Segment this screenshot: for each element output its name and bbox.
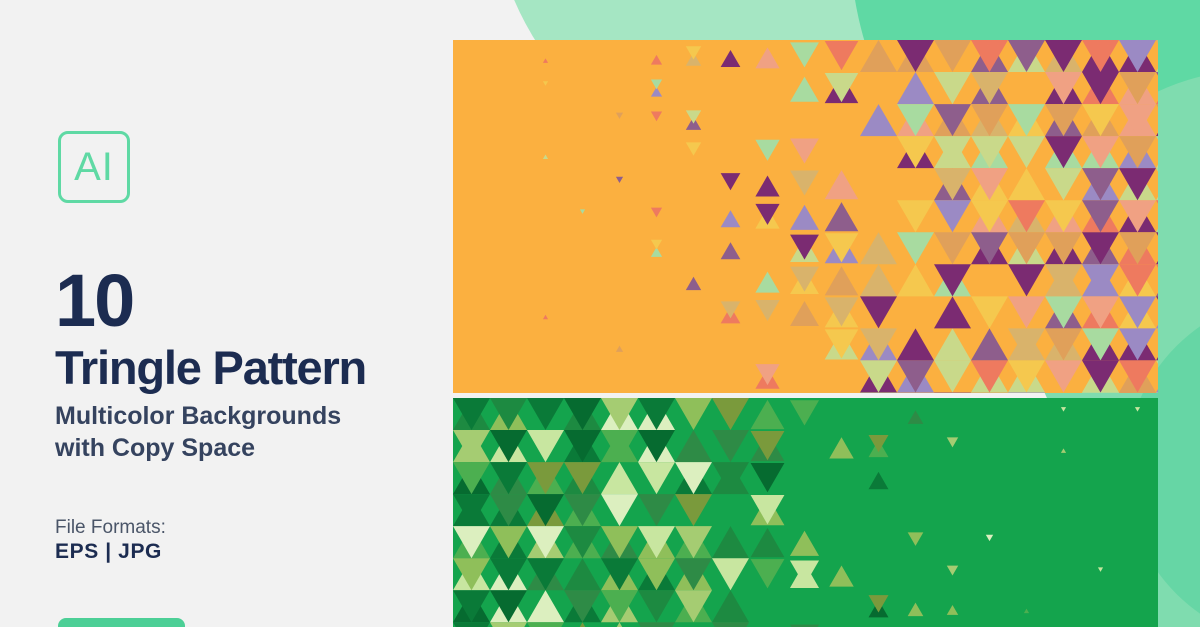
pattern-triangle xyxy=(686,110,701,123)
pattern-triangle xyxy=(675,398,712,430)
pattern-triangle xyxy=(1156,40,1158,72)
pattern-triangle xyxy=(897,392,934,393)
pattern-triangle xyxy=(616,346,623,352)
pattern-triangle xyxy=(527,622,564,627)
pattern-triangle xyxy=(1156,72,1158,104)
pattern-triangle xyxy=(1156,104,1158,136)
pattern-triangle xyxy=(790,205,819,230)
pattern-triangle xyxy=(934,360,971,392)
pattern-triangle xyxy=(825,266,859,295)
pattern-triangle xyxy=(1008,264,1045,296)
pattern-triangle xyxy=(527,590,564,622)
pattern-triangle xyxy=(790,77,819,102)
pattern-triangle xyxy=(1156,200,1158,232)
pattern-triangle xyxy=(1156,328,1158,360)
pattern-triangle xyxy=(675,494,712,526)
pattern-triangle xyxy=(790,531,819,556)
pattern-triangle xyxy=(751,528,785,557)
file-formats-value: EPS | JPG xyxy=(55,540,162,564)
pattern-triangle xyxy=(651,240,662,250)
pattern-triangle xyxy=(829,437,853,458)
pattern-triangle xyxy=(860,264,897,296)
pattern-triangle xyxy=(971,296,1008,328)
pattern-triangle xyxy=(712,430,749,462)
pattern-triangle xyxy=(755,47,779,68)
pattern-triangle xyxy=(638,462,675,494)
pattern-triangle xyxy=(908,532,924,546)
pattern-triangle xyxy=(1156,264,1158,296)
pattern-triangle xyxy=(1156,264,1158,296)
pattern-triangle xyxy=(860,40,897,72)
pattern-triangle xyxy=(825,202,859,231)
pattern-triangle xyxy=(453,622,490,627)
pattern-triangle xyxy=(543,58,548,62)
pattern-triangle xyxy=(825,170,859,199)
pattern-triangle xyxy=(755,176,779,197)
pattern-triangle xyxy=(1024,609,1029,613)
pattern-triangle xyxy=(543,315,548,319)
pattern-triangle xyxy=(755,272,779,293)
pattern-triangle xyxy=(601,462,638,494)
pattern-triangle xyxy=(721,50,741,67)
pattern-triangle xyxy=(601,494,638,526)
pattern-triangle xyxy=(1156,200,1158,232)
pattern-triangle xyxy=(751,400,785,429)
pattern-triangle xyxy=(755,204,779,225)
pattern-triangle xyxy=(897,328,934,360)
pattern-triangle xyxy=(1082,392,1119,393)
triangle-pattern-green xyxy=(453,398,1158,627)
pattern-triangle xyxy=(934,200,971,232)
pattern-triangle xyxy=(869,472,889,489)
pattern-triangle xyxy=(860,232,897,264)
pattern-triangle xyxy=(790,138,819,163)
pattern-triangle xyxy=(1156,296,1158,328)
pattern-triangle xyxy=(1156,40,1158,72)
pattern-triangle xyxy=(860,296,897,328)
pattern-triangle xyxy=(712,558,749,590)
pattern-triangle xyxy=(869,435,889,452)
pattern-triangle xyxy=(1098,567,1103,571)
pattern-triangle xyxy=(908,603,924,617)
pattern-triangle xyxy=(651,208,662,218)
pattern-triangle xyxy=(1156,392,1158,393)
pattern-triangle xyxy=(790,301,819,326)
pattern-triangle xyxy=(934,296,971,328)
pattern-triangle xyxy=(686,46,701,59)
pattern-triangle xyxy=(897,264,934,296)
pattern-triangle xyxy=(638,494,675,526)
pattern-triangle xyxy=(869,595,889,612)
pattern-triangle xyxy=(934,72,971,104)
pattern-triangle xyxy=(490,622,527,627)
pattern-triangle xyxy=(1156,232,1158,264)
info-column: AI 10 Tringle Pattern Multicolor Backgro… xyxy=(0,0,453,627)
pattern-triangle xyxy=(897,232,934,264)
pattern-triangle xyxy=(616,177,623,183)
page-title: Tringle Pattern xyxy=(55,344,366,391)
pattern-triangle xyxy=(825,41,859,70)
pattern-triangle xyxy=(755,300,779,321)
download-button[interactable]: Download xyxy=(58,618,185,627)
pattern-triangle xyxy=(564,558,601,590)
pattern-triangle xyxy=(1156,136,1158,168)
poster-canvas: AI 10 Tringle Pattern Multicolor Backgro… xyxy=(0,0,1200,627)
pattern-triangle xyxy=(829,565,853,586)
pattern-triangle xyxy=(675,430,712,462)
pattern-triangle xyxy=(1156,360,1158,392)
pattern-triangle xyxy=(1061,448,1066,452)
pattern-triangle xyxy=(971,392,1008,393)
pattern-triangle xyxy=(712,590,749,622)
pattern-triangle xyxy=(1045,168,1082,200)
pattern-triangle xyxy=(1008,168,1045,200)
pattern-triangle xyxy=(1045,360,1082,392)
pattern-triangle xyxy=(651,112,662,122)
pattern-triangle xyxy=(947,605,958,615)
preview-orange[interactable] xyxy=(453,40,1158,393)
pattern-triangle xyxy=(580,209,585,213)
pattern-triangle xyxy=(527,430,564,462)
pattern-triangle xyxy=(1156,104,1158,136)
pattern-triangle xyxy=(934,232,971,264)
pattern-triangle xyxy=(1156,296,1158,328)
pattern-triangle xyxy=(721,242,741,259)
pattern-triangle xyxy=(543,155,548,159)
pattern-triangle xyxy=(686,142,701,155)
pattern-triangle xyxy=(601,622,638,627)
pattern-triangle xyxy=(543,81,548,85)
pattern-triangle xyxy=(1119,392,1156,393)
pattern-triangle xyxy=(1156,168,1158,200)
pattern-triangle xyxy=(934,40,971,72)
pattern-triangle xyxy=(986,535,993,541)
pattern-triangle xyxy=(860,392,897,393)
pattern-triangle xyxy=(712,526,749,558)
pattern-triangle xyxy=(1156,328,1158,360)
pattern-triangle xyxy=(790,42,819,67)
pattern-triangle xyxy=(790,171,819,196)
pattern-triangle xyxy=(638,590,675,622)
preview-green[interactable] xyxy=(453,398,1158,627)
pattern-triangle xyxy=(908,410,924,424)
page-subtitle-line-1: Multicolor Backgrounds xyxy=(55,400,455,432)
pattern-triangle xyxy=(755,364,779,385)
pattern-triangle xyxy=(934,392,971,393)
pattern-triangle xyxy=(897,200,934,232)
pattern-triangle xyxy=(651,55,662,65)
pattern-triangle xyxy=(755,140,779,161)
pattern-triangle xyxy=(1156,168,1158,200)
pattern-triangle xyxy=(721,173,741,190)
adobe-illustrator-badge: AI xyxy=(58,131,130,203)
pattern-triangle xyxy=(947,437,958,447)
pattern-triangle xyxy=(1156,232,1158,264)
pattern-triangle xyxy=(947,566,958,576)
page-subtitle-line-2: with Copy Space xyxy=(55,432,455,464)
page-subtitle: Multicolor Backgrounds with Copy Space xyxy=(55,400,455,464)
pattern-triangle xyxy=(1135,407,1140,411)
pattern-triangle xyxy=(971,328,1008,360)
pattern-triangle xyxy=(860,104,897,136)
pattern-triangle xyxy=(751,463,785,492)
pattern-triangle xyxy=(712,398,749,430)
pattern-triangle xyxy=(751,559,785,588)
pattern-triangle xyxy=(686,277,701,290)
pattern-triangle xyxy=(651,79,662,89)
pattern-triangle xyxy=(527,398,564,430)
pattern-triangle xyxy=(1061,407,1066,411)
pattern-triangle xyxy=(721,301,741,318)
pattern-triangle xyxy=(564,622,601,627)
pattern-triangle xyxy=(616,113,623,119)
pattern-triangle xyxy=(897,72,934,104)
pattern-triangle xyxy=(712,622,749,627)
pattern-triangle xyxy=(638,622,675,627)
triangle-pattern-orange xyxy=(453,40,1158,393)
pattern-triangle xyxy=(790,400,819,425)
pattern-triangle xyxy=(1156,72,1158,104)
pattern-triangle xyxy=(1008,296,1045,328)
file-formats-label: File Formats: xyxy=(55,517,166,539)
pattern-triangle xyxy=(934,328,971,360)
pattern-triangle xyxy=(721,210,741,227)
badge-label: AI xyxy=(74,147,114,187)
pattern-triangle xyxy=(1156,136,1158,168)
pattern-triangle xyxy=(1008,136,1045,168)
item-count: 10 xyxy=(55,264,133,338)
pattern-triangle xyxy=(1008,392,1045,393)
pattern-triangle xyxy=(1156,360,1158,392)
